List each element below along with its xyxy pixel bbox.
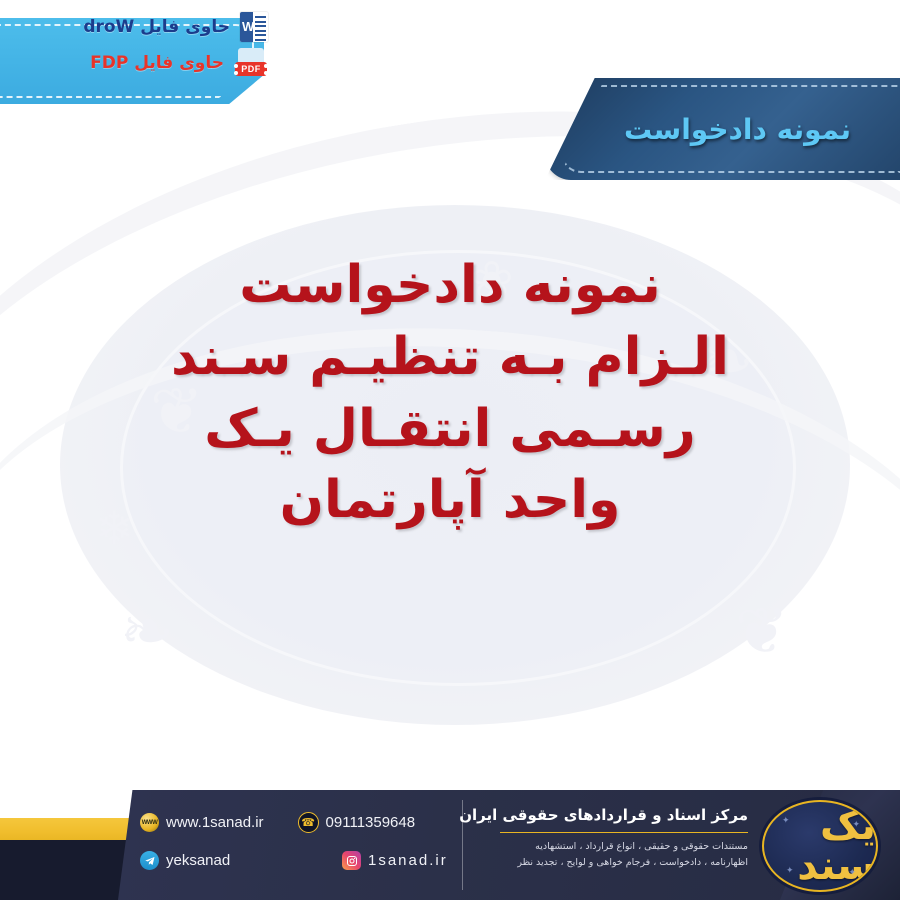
contact-list: WWW www.1sanad.ir ☎ 09111359648 yeksanad… <box>140 812 448 870</box>
brand-block: مرکز اسناد و قراردادهای حقوقی ایران مستن… <box>500 806 748 870</box>
ornament-swirl-icon: ❦ <box>735 600 789 664</box>
page-title-line-3: رسـمی انتقـال یـک <box>60 394 840 466</box>
brand-rule <box>500 832 748 833</box>
contact-phone-label: 09111359648 <box>326 814 416 831</box>
pdf-file-row: PDF حاوی فایل PDF <box>38 48 268 78</box>
phone-icon: ☎ <box>298 812 319 833</box>
page-title: نمونه دادخواست الـزام بـه تنظیـم سـند رس… <box>60 250 840 537</box>
contact-phone[interactable]: ☎ 09111359648 <box>298 812 416 833</box>
contact-telegram-label: yeksanad <box>166 852 230 869</box>
www-icon: WWW <box>140 813 159 832</box>
pdf-file-label: حاوی فایل PDF <box>90 53 224 73</box>
contact-instagram[interactable]: 1sanad.ir <box>342 851 448 870</box>
contact-website-label: www.1sanad.ir <box>166 814 264 831</box>
word-file-row: W حاوی فایل Word <box>38 12 268 42</box>
contact-website[interactable]: WWW www.1sanad.ir <box>140 813 264 832</box>
brand-subtitle-line-2: اظهارنامه ، دادخواست ، فرجام خواهی و لوا… <box>500 855 748 871</box>
telegram-icon <box>140 851 159 870</box>
word-icon-letter: W <box>242 19 254 34</box>
word-file-icon: W <box>240 12 268 42</box>
contact-row-1: WWW www.1sanad.ir ☎ 09111359648 <box>140 812 448 833</box>
page-title-line-2: الـزام بـه تنظیـم سـند <box>60 322 840 394</box>
contact-row-2: yeksanad 1sanad.ir <box>140 851 448 870</box>
banner-title: نمونه دادخواست <box>545 78 900 180</box>
pdf-file-icon: PDF <box>234 48 268 78</box>
pdf-icon-letter: PDF <box>235 62 267 76</box>
document-type-banner: نمونه دادخواست <box>545 78 900 180</box>
page-title-line-4: واحد آپارتمان <box>60 465 840 537</box>
logo-text: یک سند <box>764 806 876 886</box>
brand-subtitle-line-1: مستندات حقوقی و حقیقی ، انواع قرارداد ، … <box>500 839 748 855</box>
page-title-line-1: نمونه دادخواست <box>60 250 840 322</box>
oval-calligraphy-logo: ✦ ✦ ✦ ✦ یک سند <box>762 800 878 892</box>
contact-telegram[interactable]: yeksanad <box>140 851 308 870</box>
brand-title: مرکز اسناد و قراردادهای حقوقی ایران <box>500 806 748 830</box>
contact-instagram-label: 1sanad.ir <box>368 852 448 869</box>
ornament-swirl-icon: ❧ <box>120 600 174 664</box>
poster-canvas: ❦ ❧ ❧ ❦ ❄ ❀ W حاوی فایل Word PDF حاوی فا… <box>0 0 900 900</box>
instagram-icon <box>342 851 361 870</box>
word-file-label: حاوی فایل Word <box>83 17 230 37</box>
